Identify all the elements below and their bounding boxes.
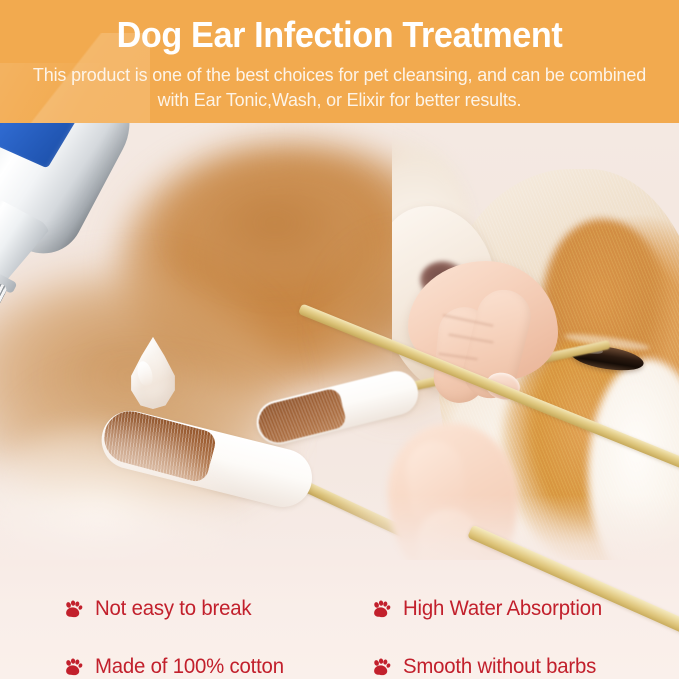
paw-print-icon — [370, 656, 392, 678]
page-title: Dog Ear Infection Treatment — [17, 13, 662, 57]
liquid-stain — [180, 163, 370, 283]
header-banner: Dog Ear Infection Treatment This product… — [0, 0, 679, 123]
feature-label: High Water Absorption — [403, 597, 602, 621]
feature-label: Made of 100% cotton — [95, 655, 284, 679]
features-grid: Not easy to break High Water Absorption — [0, 560, 679, 679]
product-infographic: Dog Ear Infection Treatment This product… — [0, 0, 679, 679]
paw-print-icon — [370, 598, 392, 620]
feature-item: Not easy to break — [0, 597, 348, 621]
paw-print-icon — [62, 656, 84, 678]
paw-print-icon — [62, 598, 84, 620]
feature-item: Made of 100% cotton — [0, 655, 348, 679]
page-subtitle: This product is one of the best choices … — [32, 62, 648, 112]
feature-label: Smooth without barbs — [403, 655, 596, 679]
product-photo — [0, 123, 679, 585]
dropper-bottle — [0, 123, 211, 397]
hand-holding-ear — [408, 261, 608, 481]
features-footer: Not easy to break High Water Absorption — [0, 560, 679, 679]
feature-item: High Water Absorption — [348, 597, 679, 621]
feature-label: Not easy to break — [95, 597, 251, 621]
feature-item: Smooth without barbs — [348, 655, 679, 679]
